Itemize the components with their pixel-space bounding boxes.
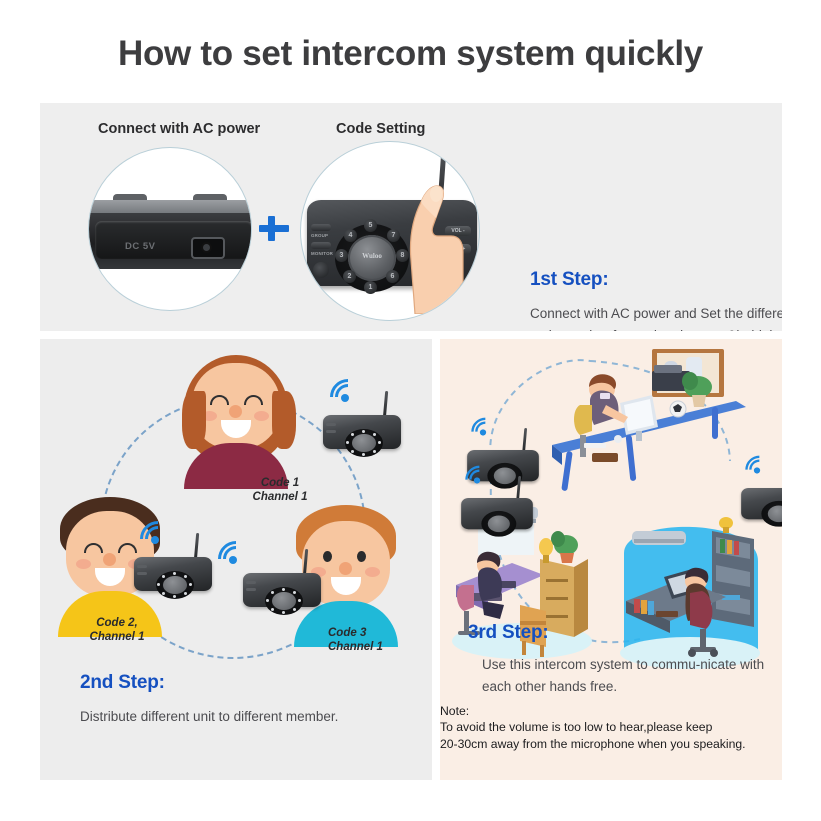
label-code-setting: Code Setting xyxy=(336,121,425,137)
unit-key-dot xyxy=(346,441,349,444)
step-2-heading: 2nd Step: xyxy=(80,672,380,694)
unit-key-dot xyxy=(378,441,381,444)
code-label-3: Code 3 Channel 1 xyxy=(328,627,432,654)
step-2-body: Distribute different unit to different m… xyxy=(80,706,380,728)
unit-key-dot xyxy=(293,608,296,611)
cheek-left xyxy=(76,559,91,569)
unit-shell xyxy=(323,415,401,449)
keypad-button-2[interactable]: 2 xyxy=(343,270,356,283)
wifi-icon xyxy=(471,418,494,437)
power-button[interactable] xyxy=(313,262,329,278)
unit-key-dot xyxy=(298,599,301,602)
unit-key-dot xyxy=(362,453,365,456)
unit-key-dot xyxy=(362,430,365,433)
wifi-icon xyxy=(465,466,488,485)
unit-shell xyxy=(741,488,782,519)
step-3-heading: 3rd Step: xyxy=(468,622,768,644)
nose xyxy=(103,553,116,566)
panel-step-1: Connect with AC power Code Setting DC 5V xyxy=(40,103,782,331)
unit-key-dot xyxy=(271,608,274,611)
hair-side-right xyxy=(272,391,296,449)
unit-side-button[interactable] xyxy=(246,588,256,591)
keypad-button-5[interactable]: 5 xyxy=(364,219,377,232)
unit-speaker xyxy=(163,576,187,594)
unit-key-dot xyxy=(184,575,187,578)
unit-speaker xyxy=(352,434,376,452)
unit-keypad-ring xyxy=(156,571,194,599)
unit-key-dot xyxy=(282,611,285,614)
cheek-right xyxy=(254,411,269,421)
nose xyxy=(339,562,352,575)
group-button-label: GROUP xyxy=(311,233,328,238)
unit-side-button[interactable] xyxy=(137,572,147,575)
unit-key-dot xyxy=(373,450,376,453)
step-3-body: Use this intercom system to commu-nicate… xyxy=(468,654,768,698)
infographic-page: How to set intercom system quickly Conne… xyxy=(0,0,821,821)
wifi-icon xyxy=(745,456,768,475)
unit-speaker xyxy=(488,516,510,533)
note-line-2: 20-30cm away from the microphone when yo… xyxy=(440,736,782,752)
dc-power-label: DC 5V xyxy=(125,241,155,252)
intercom-unit-scene-left[interactable] xyxy=(461,489,533,531)
page-title: How to set intercom system quickly xyxy=(0,34,821,74)
photo-device-keypad: Wuloo 5 4 3 2 1 6 8 7 GROUP MONITOR xyxy=(300,141,480,321)
wifi-icon xyxy=(218,541,248,565)
dc-power-jack-icon xyxy=(191,237,225,259)
unit-key-dot xyxy=(184,592,187,595)
device-rear-illustration: DC 5V xyxy=(88,200,252,272)
photo-device-rear: DC 5V xyxy=(88,147,252,311)
unit-speaker xyxy=(494,468,516,485)
step-1-body: Connect with AC power and Set the differ… xyxy=(530,303,782,331)
unit-keypad-ring xyxy=(481,511,516,537)
unit-key-dot xyxy=(271,591,274,594)
unit-key-dot xyxy=(157,583,160,586)
note-block: Note: To avoid the volume is too low to … xyxy=(440,703,782,752)
unit-speaker xyxy=(768,506,782,523)
scene-office-desk xyxy=(540,343,760,493)
unit-shell xyxy=(461,498,533,529)
device-rear-inset: DC 5V xyxy=(95,221,252,259)
keypad-button-3[interactable]: 3 xyxy=(335,249,348,262)
label-connect-ac-power: Connect with AC power xyxy=(98,121,260,137)
code-label-2: Code 2, Channel 1 xyxy=(62,617,172,644)
unit-keypad-ring xyxy=(345,429,383,457)
nose xyxy=(229,405,242,418)
unit-key-dot xyxy=(173,572,176,575)
unit-side-button[interactable] xyxy=(326,423,336,426)
unit-key-dot xyxy=(173,595,176,598)
monitor-button-label: MONITOR xyxy=(311,251,333,256)
eye-right-icon xyxy=(357,551,366,562)
pointing-hand-illustration xyxy=(385,164,465,314)
unit-key-dot xyxy=(351,433,354,436)
note-line-1: To avoid the volume is too low to hear,p… xyxy=(440,719,782,735)
keypad-button-4[interactable]: 4 xyxy=(344,229,357,242)
keypad-button-1[interactable]: 1 xyxy=(364,281,377,294)
unit-key-dot xyxy=(282,588,285,591)
intercom-unit-code-2[interactable] xyxy=(134,547,212,593)
note-label: Note: xyxy=(440,703,782,719)
unit-key-dot xyxy=(293,591,296,594)
monitor-button[interactable] xyxy=(311,242,331,249)
unit-side-button[interactable] xyxy=(246,581,256,584)
intercom-unit-code-1[interactable] xyxy=(323,405,401,451)
step-1-text-block: 1st Step: Connect with AC power and Set … xyxy=(530,269,782,331)
unit-side-button[interactable] xyxy=(137,565,147,568)
unit-key-dot xyxy=(162,575,165,578)
group-button[interactable] xyxy=(311,224,331,231)
unit-side-button[interactable] xyxy=(326,430,336,433)
office-desk-illustration xyxy=(540,343,760,493)
hair-side-left xyxy=(182,391,206,449)
wifi-icon xyxy=(140,521,170,545)
unit-keypad-ring xyxy=(265,587,303,615)
wifi-icon xyxy=(330,379,360,403)
code-label-1: Code 1 Channel 1 xyxy=(225,477,335,504)
unit-shell xyxy=(243,573,321,607)
cheek-right xyxy=(365,567,380,577)
unit-speaker xyxy=(272,592,296,610)
unit-key-dot xyxy=(373,433,376,436)
step-1-heading: 1st Step: xyxy=(530,269,782,291)
unit-key-dot xyxy=(189,583,192,586)
unit-shell xyxy=(134,557,212,591)
device-rear-body: DC 5V xyxy=(88,213,252,269)
unit-key-dot xyxy=(266,599,269,602)
plus-icon xyxy=(256,211,292,247)
unit-key-dot xyxy=(162,592,165,595)
intercom-unit-code-3[interactable] xyxy=(243,563,321,609)
intercom-unit-scene-right[interactable] xyxy=(741,479,782,521)
step-3-text-block: 3rd Step: Use this intercom system to co… xyxy=(468,622,768,698)
step-2-text-block: 2nd Step: Distribute different unit to d… xyxy=(80,672,380,728)
unit-key-dot xyxy=(351,450,354,453)
eye-left-icon xyxy=(323,551,332,562)
